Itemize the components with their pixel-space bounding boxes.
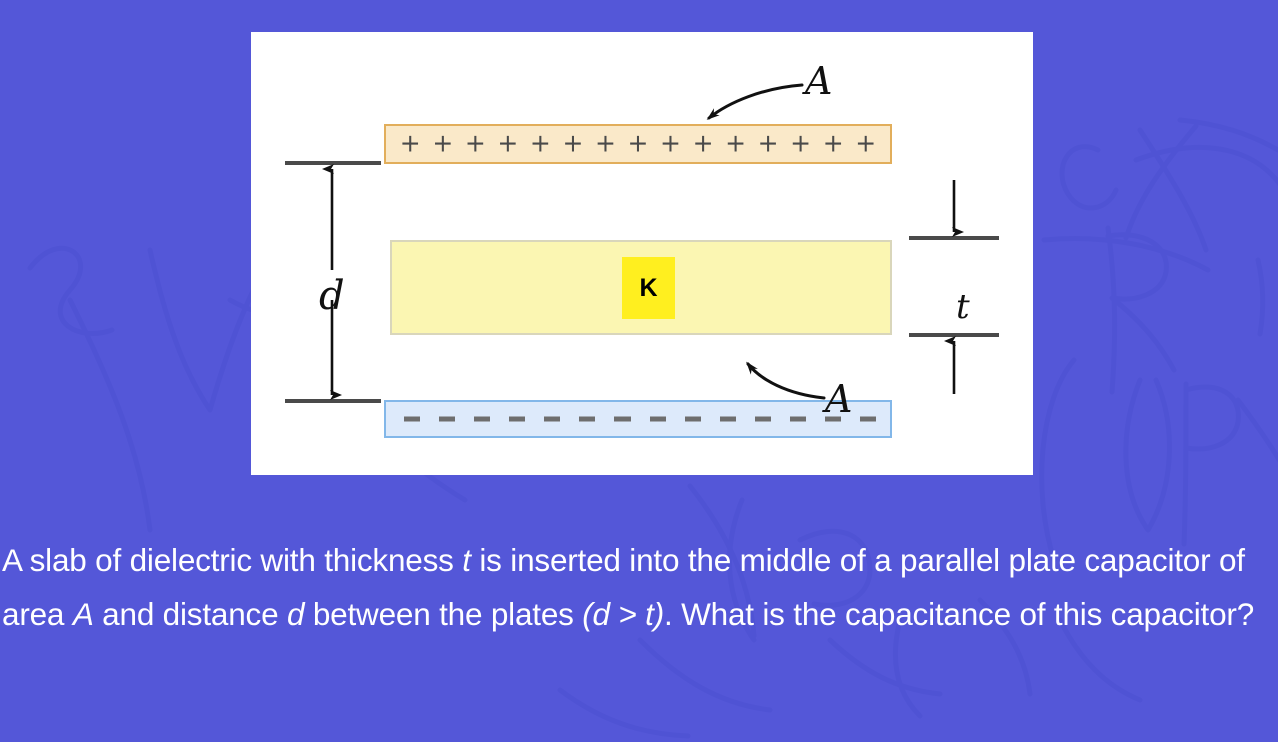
minus-sign: [755, 417, 771, 422]
plus-sign: +: [693, 131, 714, 156]
plus-sign: +: [530, 131, 551, 156]
minus-sign: [685, 417, 701, 422]
plus-sign: +: [660, 131, 681, 156]
plus-sign: +: [497, 131, 518, 156]
caption-segment-4: and distance: [94, 596, 287, 632]
caption-segment-5: d: [287, 596, 304, 632]
plus-sign: +: [790, 131, 811, 156]
plus-sign: +: [595, 131, 616, 156]
positive-plate: + + + + + + + + + + + + + + +: [384, 124, 892, 164]
plus-sign: +: [562, 131, 583, 156]
figure-panel: + + + + + + + + + + + + + + + K: [251, 32, 1033, 475]
minus-sign: [860, 417, 876, 422]
plus-sign: +: [628, 131, 649, 156]
caption-segment-6: between the plates: [304, 596, 582, 632]
minus-sign: [579, 417, 595, 422]
plate-separation-label: d: [319, 276, 345, 316]
minus-sign: [650, 417, 666, 422]
area-label-top: A: [805, 62, 832, 100]
dielectric-constant-highlight: K: [622, 257, 675, 319]
minus-sign: [439, 417, 455, 422]
caption-segment-3: A: [73, 596, 94, 632]
slab-thickness-label: t: [956, 290, 970, 324]
negative-charge-row: [386, 417, 890, 422]
plus-sign: +: [758, 131, 779, 156]
minus-sign: [720, 417, 736, 422]
question-caption: A slab of dielectric with thickness t is…: [2, 533, 1276, 641]
minus-sign: [790, 417, 806, 422]
plus-sign: +: [400, 131, 421, 156]
minus-sign: [404, 417, 420, 422]
slide-canvas: + + + + + + + + + + + + + + + K: [0, 0, 1278, 742]
minus-sign: [474, 417, 490, 422]
caption-segment-0: A slab of dielectric with thickness: [2, 542, 462, 578]
plus-sign: +: [465, 131, 486, 156]
plus-sign: +: [855, 131, 876, 156]
minus-sign: [614, 417, 630, 422]
plus-sign: +: [823, 131, 844, 156]
negative-plate: [384, 400, 892, 438]
plus-sign: +: [432, 131, 453, 156]
caption-segment-8: . What is the capacitance of this capaci…: [664, 596, 1254, 632]
caption-segment-7: (d > t): [582, 596, 664, 632]
positive-charge-row: + + + + + + + + + + + + + + +: [386, 133, 890, 156]
plus-sign: +: [725, 131, 746, 156]
dielectric-constant-label: K: [639, 276, 657, 301]
minus-sign: [544, 417, 560, 422]
caption-segment-1: t: [462, 542, 471, 578]
minus-sign: [509, 417, 525, 422]
area-label-bottom: A: [825, 380, 852, 418]
